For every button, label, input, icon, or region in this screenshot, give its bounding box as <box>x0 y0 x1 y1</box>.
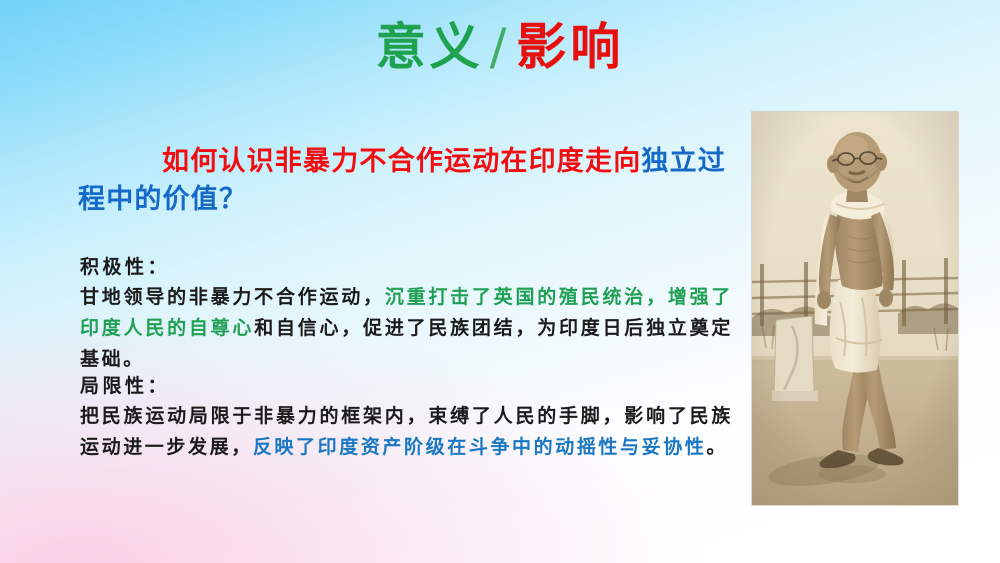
run-plain: 。 <box>706 436 728 458</box>
slide-canvas: 意义/影响 如何认识非暴力不合作运动在印度走向独立过程中的价值？ 积极性： 甘地… <box>0 0 1000 563</box>
title-part-green: 意义 <box>376 18 484 76</box>
gandhi-photo-illustration <box>752 112 958 505</box>
gandhi-walking-photo <box>752 112 958 505</box>
headline-red-run: 如何认识非暴力不合作运动在印度走向 <box>162 146 641 177</box>
section-paragraph-positive: 甘地领导的非暴力不合作运动，沉重打击了英国的殖民统治，增强了印度人民的自尊心和自… <box>80 282 733 375</box>
question-headline: 如何认识非暴力不合作运动在印度走向独立过程中的价值？ <box>78 143 738 220</box>
section-paragraph-limitation: 把民族运动局限于非暴力的框架内，束缚了人民的手脚，影响了民族运动进一步发展，反映… <box>80 401 733 463</box>
title-separator: / <box>484 18 517 76</box>
run-plain: 甘地领导的非暴力不合作运动， <box>80 286 385 308</box>
section-label-positive: 积极性： <box>80 252 170 279</box>
title-part-red: 影响 <box>516 18 624 76</box>
run-highlight-blue: 反映了印度资产阶级在斗争中的动摇性与妥协性 <box>253 436 707 458</box>
section-label-limitation: 局限性： <box>80 371 170 398</box>
page-title: 意义/影响 <box>0 20 1000 75</box>
